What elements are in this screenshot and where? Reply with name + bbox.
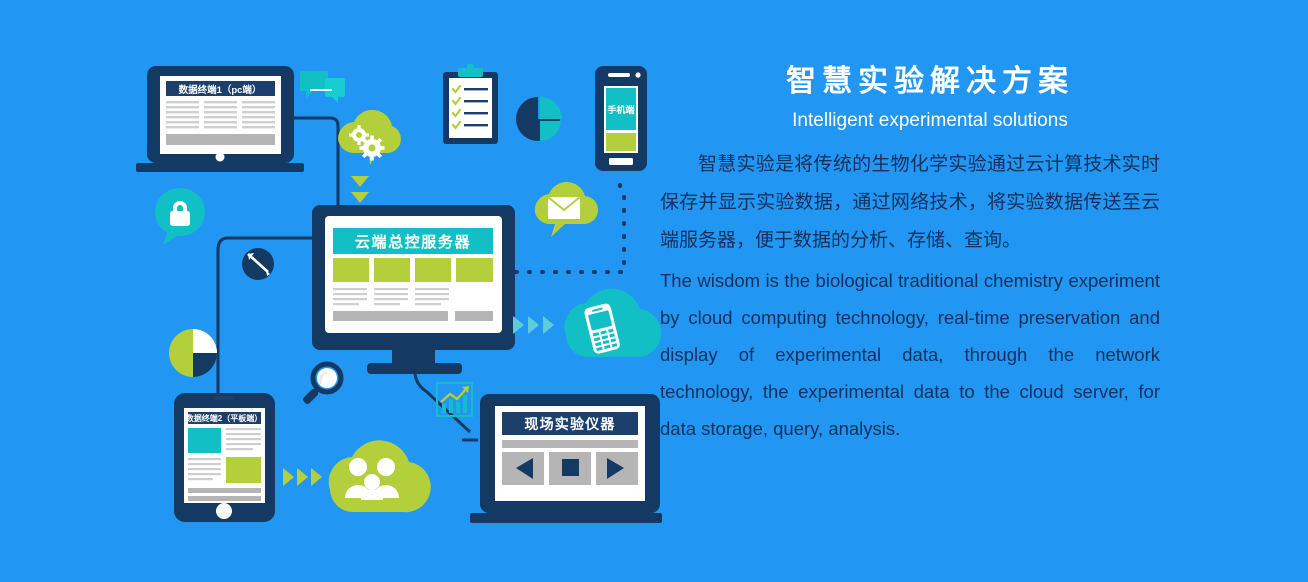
monitor-center-screen-title: 云端总控服务器 [355, 233, 471, 251]
gear-cloud-icon [338, 110, 401, 166]
pie-chart-icon [169, 329, 217, 377]
paragraph-english: The wisdom is the biological traditional… [660, 262, 1160, 447]
system-diagram-illustration: 数据终端1（pc端） [0, 0, 680, 577]
device-tablet-bottom [174, 393, 275, 522]
arrows-right-green-icon [283, 468, 322, 486]
paragraph-chinese: 智慧实验是将传统的生物化学实验通过云计算技术实时保存并显示实验数据，通过网络技术… [660, 146, 1160, 260]
pie-chart-small-icon [516, 97, 562, 141]
page-subtitle: Intelligent experimental solutions [660, 110, 1200, 132]
lock-bubble-icon [155, 188, 205, 245]
text-column: 智慧实验解决方案 Intelligent experimental soluti… [660, 56, 1290, 447]
cursor-pie-icon [242, 248, 274, 280]
page-title: 智慧实验解决方案 [660, 56, 1200, 100]
device-monitor-center [312, 205, 515, 374]
laptop-bottom-stop-icon [562, 459, 579, 476]
magnifier-icon [302, 364, 341, 405]
device-laptop-bottom [470, 394, 662, 523]
device-phone-top [595, 66, 647, 171]
device-laptop-top [136, 66, 304, 172]
phone-cloud-icon [565, 289, 662, 358]
people-cloud-icon [329, 440, 431, 512]
arrows-right-teal-icon [513, 316, 554, 334]
promo-banner: 数据终端1（pc端） [0, 0, 1308, 577]
clipboard-checklist-icon [443, 64, 498, 144]
laptop-bottom-screen-title: 现场实验仪器 [524, 416, 615, 432]
tablet-bottom-screen-title: 数据终端2（平板端） [186, 413, 262, 423]
arrows-down-green-icon [351, 176, 369, 203]
phone-top-screen-title: 手机端 [607, 104, 634, 115]
bar-chart-icon [437, 383, 472, 416]
envelope-cloud-icon [535, 182, 598, 237]
chat-bubbles-icon [300, 71, 345, 103]
laptop-top-screen-title: 数据终端1（pc端） [178, 84, 262, 96]
